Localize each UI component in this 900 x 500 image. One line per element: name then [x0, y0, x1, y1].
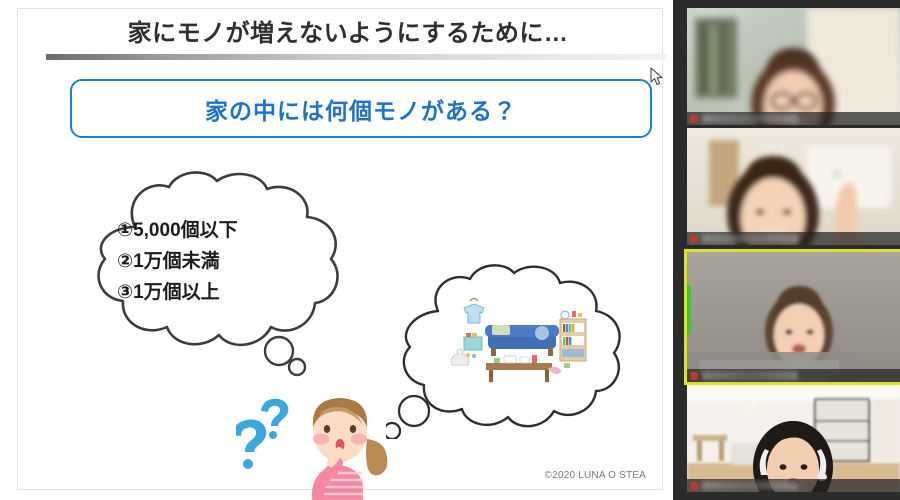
video-tile-participant-3[interactable]: [687, 252, 900, 382]
mic-muted-icon: [690, 115, 698, 123]
video-feed: [687, 252, 900, 382]
page-title: 家にモノが増えないようにするために…: [58, 19, 638, 49]
video-feed: [687, 8, 900, 125]
thinking-girl-illustration: [293, 387, 398, 500]
answer-options: ①5,000個以下 ②1万個未満 ③1万個以上: [117, 215, 347, 308]
sofa-icon: [485, 325, 559, 356]
screen-share-meeting-window: 家にモノが増えないようにするために… 家の中には何個モノがある？ ①5: [0, 0, 900, 500]
toy-box-icon: [464, 333, 482, 358]
video-feed: [687, 128, 900, 245]
participant-name-label: [702, 114, 798, 123]
participant-name-label: [702, 234, 798, 243]
participant-name-bar: [687, 112, 900, 125]
video-tile-participant-1[interactable]: [687, 8, 900, 125]
room-thought-bubble: [386, 259, 641, 439]
shared-slide-area[interactable]: 家にモノが増えないようにするために… 家の中には何個モノがある？ ①5: [0, 0, 673, 500]
answer-option: ①5,000個以下: [117, 215, 347, 246]
mic-muted-icon: [690, 482, 698, 490]
participant-name-label: [702, 371, 798, 380]
participant-name-bar: [687, 232, 900, 245]
video-feed: [687, 385, 900, 492]
participant-name-label: [702, 481, 798, 490]
messy-living-room-illustration: [444, 289, 594, 394]
mic-muted-icon: [690, 235, 698, 243]
room-items-icon: [444, 289, 594, 394]
participant-name-bar: [687, 369, 900, 382]
answers-thought-bubble: ①5,000個以下 ②1万個未満 ③1万個以上: [73, 167, 373, 377]
slide-frame: 家にモノが増えないようにするために… 家の中には何個モノがある？ ①5: [17, 8, 663, 490]
answer-option: ③1万個以上: [117, 277, 347, 308]
answer-option: ②1万個未満: [117, 246, 347, 277]
mic-muted-icon: [690, 372, 698, 380]
coffee-table-icon: [486, 355, 552, 382]
question-text: 家の中には何個モノがある？: [205, 92, 517, 126]
copyright-notice: ©2020 LUNA O STEA: [545, 470, 646, 481]
video-tile-participant-2[interactable]: [687, 128, 900, 245]
participant-name-bar: [687, 479, 900, 492]
question-callout-box: 家の中には何個モノがある？: [70, 79, 652, 138]
title-divider: [46, 54, 666, 60]
video-tile-participant-4[interactable]: [687, 385, 900, 492]
girl-character-icon: [293, 387, 398, 500]
hanger-shirt-icon: [464, 299, 484, 324]
participant-filmstrip[interactable]: [673, 0, 900, 500]
trash-bag-icon: [451, 349, 469, 365]
cursor-arrow-icon: [650, 67, 664, 87]
mouse-cursor: [650, 67, 664, 87]
bookshelf-icon: [560, 311, 586, 361]
